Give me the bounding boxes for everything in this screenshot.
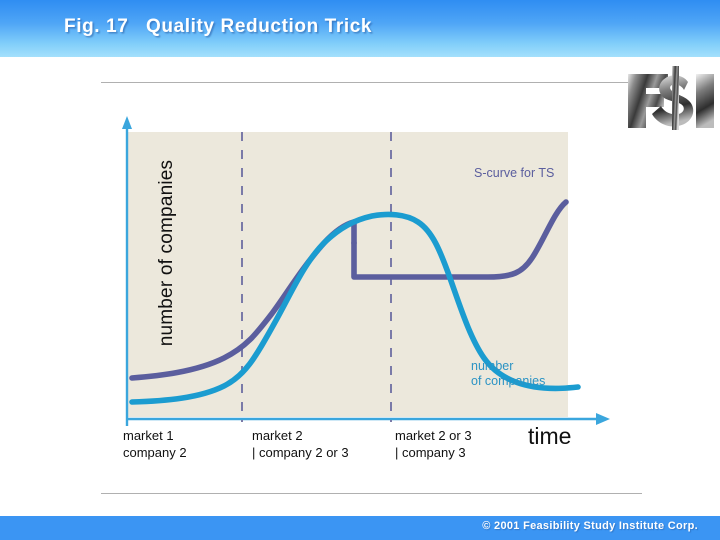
annotation-number-of-companies: number of companies — [471, 359, 545, 389]
x-tick-label-market-2: market 2 | company 2 or 3 — [252, 427, 349, 461]
slide-root: Fig. 17 Quality Reduction Trick — [0, 0, 720, 540]
x-axis-label: time — [528, 423, 571, 450]
y-axis-label: number of companies — [156, 118, 178, 388]
bottom-divider-rule — [101, 493, 642, 494]
annotation-s-curve-for-ts: S-curve for TS — [474, 166, 554, 181]
page-title: Fig. 17 Quality Reduction Trick — [64, 16, 372, 38]
chart-area: number of companies time S-curve for TS … — [88, 110, 628, 470]
top-divider-rule — [101, 82, 642, 83]
x-tick-label-market-2-or-3: market 2 or 3 | company 3 — [395, 427, 472, 461]
fsi-logo — [622, 58, 717, 136]
copyright-notice: © 2001 Feasibility Study Institute Corp. — [482, 520, 698, 532]
x-axis-arrow — [596, 413, 610, 425]
x-tick-label-market-1: market 1 company 2 — [123, 427, 187, 461]
y-axis-arrow — [122, 116, 132, 129]
